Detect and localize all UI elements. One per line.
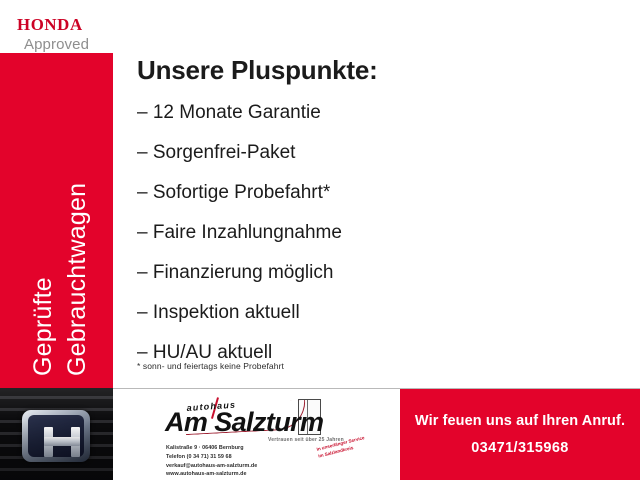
footer: autohaus Am Salzturm Vertrauen seit über…: [113, 388, 640, 480]
list-item: – HU/AU aktuell: [137, 343, 607, 362]
list-item: – Sorgenfrei-Paket: [137, 143, 607, 162]
side-claim-line-1: Geprüfte: [31, 277, 56, 376]
call-to-action-panel: Wir feuen uns auf Ihren Anruf. 03471/315…: [400, 389, 640, 480]
honda-approved-logo: HONDA Approved: [17, 17, 113, 51]
dealer-logo: autohaus Am Salzturm Vertrauen seit über…: [165, 397, 395, 475]
dealer-address-street: Kalistraße 9 · 06406 Bernburg: [166, 444, 257, 453]
footnote: * sonn- und feiertags keine Probefahrt: [137, 361, 284, 371]
honda-wordmark: HONDA: [17, 17, 115, 34]
cta-headline: Wir feuen uns auf Ihren Anruf.: [415, 413, 625, 429]
dealer-address-email[interactable]: verkauf@autohaus-am-salzturm.de: [166, 462, 257, 471]
list-item: – 12 Monate Garantie: [137, 103, 607, 122]
dealer-name: Am Salzturm: [165, 409, 323, 436]
list-item: – Faire Inzahlungnahme: [137, 223, 607, 242]
dealer-address: Kalistraße 9 · 06406 Bernburg Telefon (0…: [166, 444, 257, 479]
list-item: – Inspektion aktuell: [137, 303, 607, 322]
side-claim-panel: Geprüfte Gebrauchtwagen: [0, 53, 113, 388]
dealer-address-phone: Telefon (0 34 71) 31 59 68: [166, 453, 257, 462]
car-grille-photo: [0, 388, 113, 480]
cta-phone-number[interactable]: 03471/315968: [471, 440, 569, 456]
list-item: – Sofortige Probefahrt*: [137, 183, 607, 202]
dealer-address-website[interactable]: www.autohaus-am-salzturm.de: [166, 470, 257, 479]
advertisement-banner: HONDA Approved Geprüfte Gebrauchtwagen U…: [0, 0, 640, 480]
page-title: Unsere Pluspunkte:: [137, 56, 607, 85]
benefits-list: – 12 Monate Garantie – Sorgenfrei-Paket …: [137, 103, 607, 362]
list-item: – Finanzierung möglich: [137, 263, 607, 282]
dealer-stamp: In unserlänger Service im Salzlandkreis: [316, 430, 389, 461]
benefits-block: Unsere Pluspunkte: – 12 Monate Garantie …: [137, 56, 607, 383]
honda-approved-label: Approved: [24, 37, 113, 52]
side-claim-line-2: Gebrauchtwagen: [65, 183, 90, 376]
